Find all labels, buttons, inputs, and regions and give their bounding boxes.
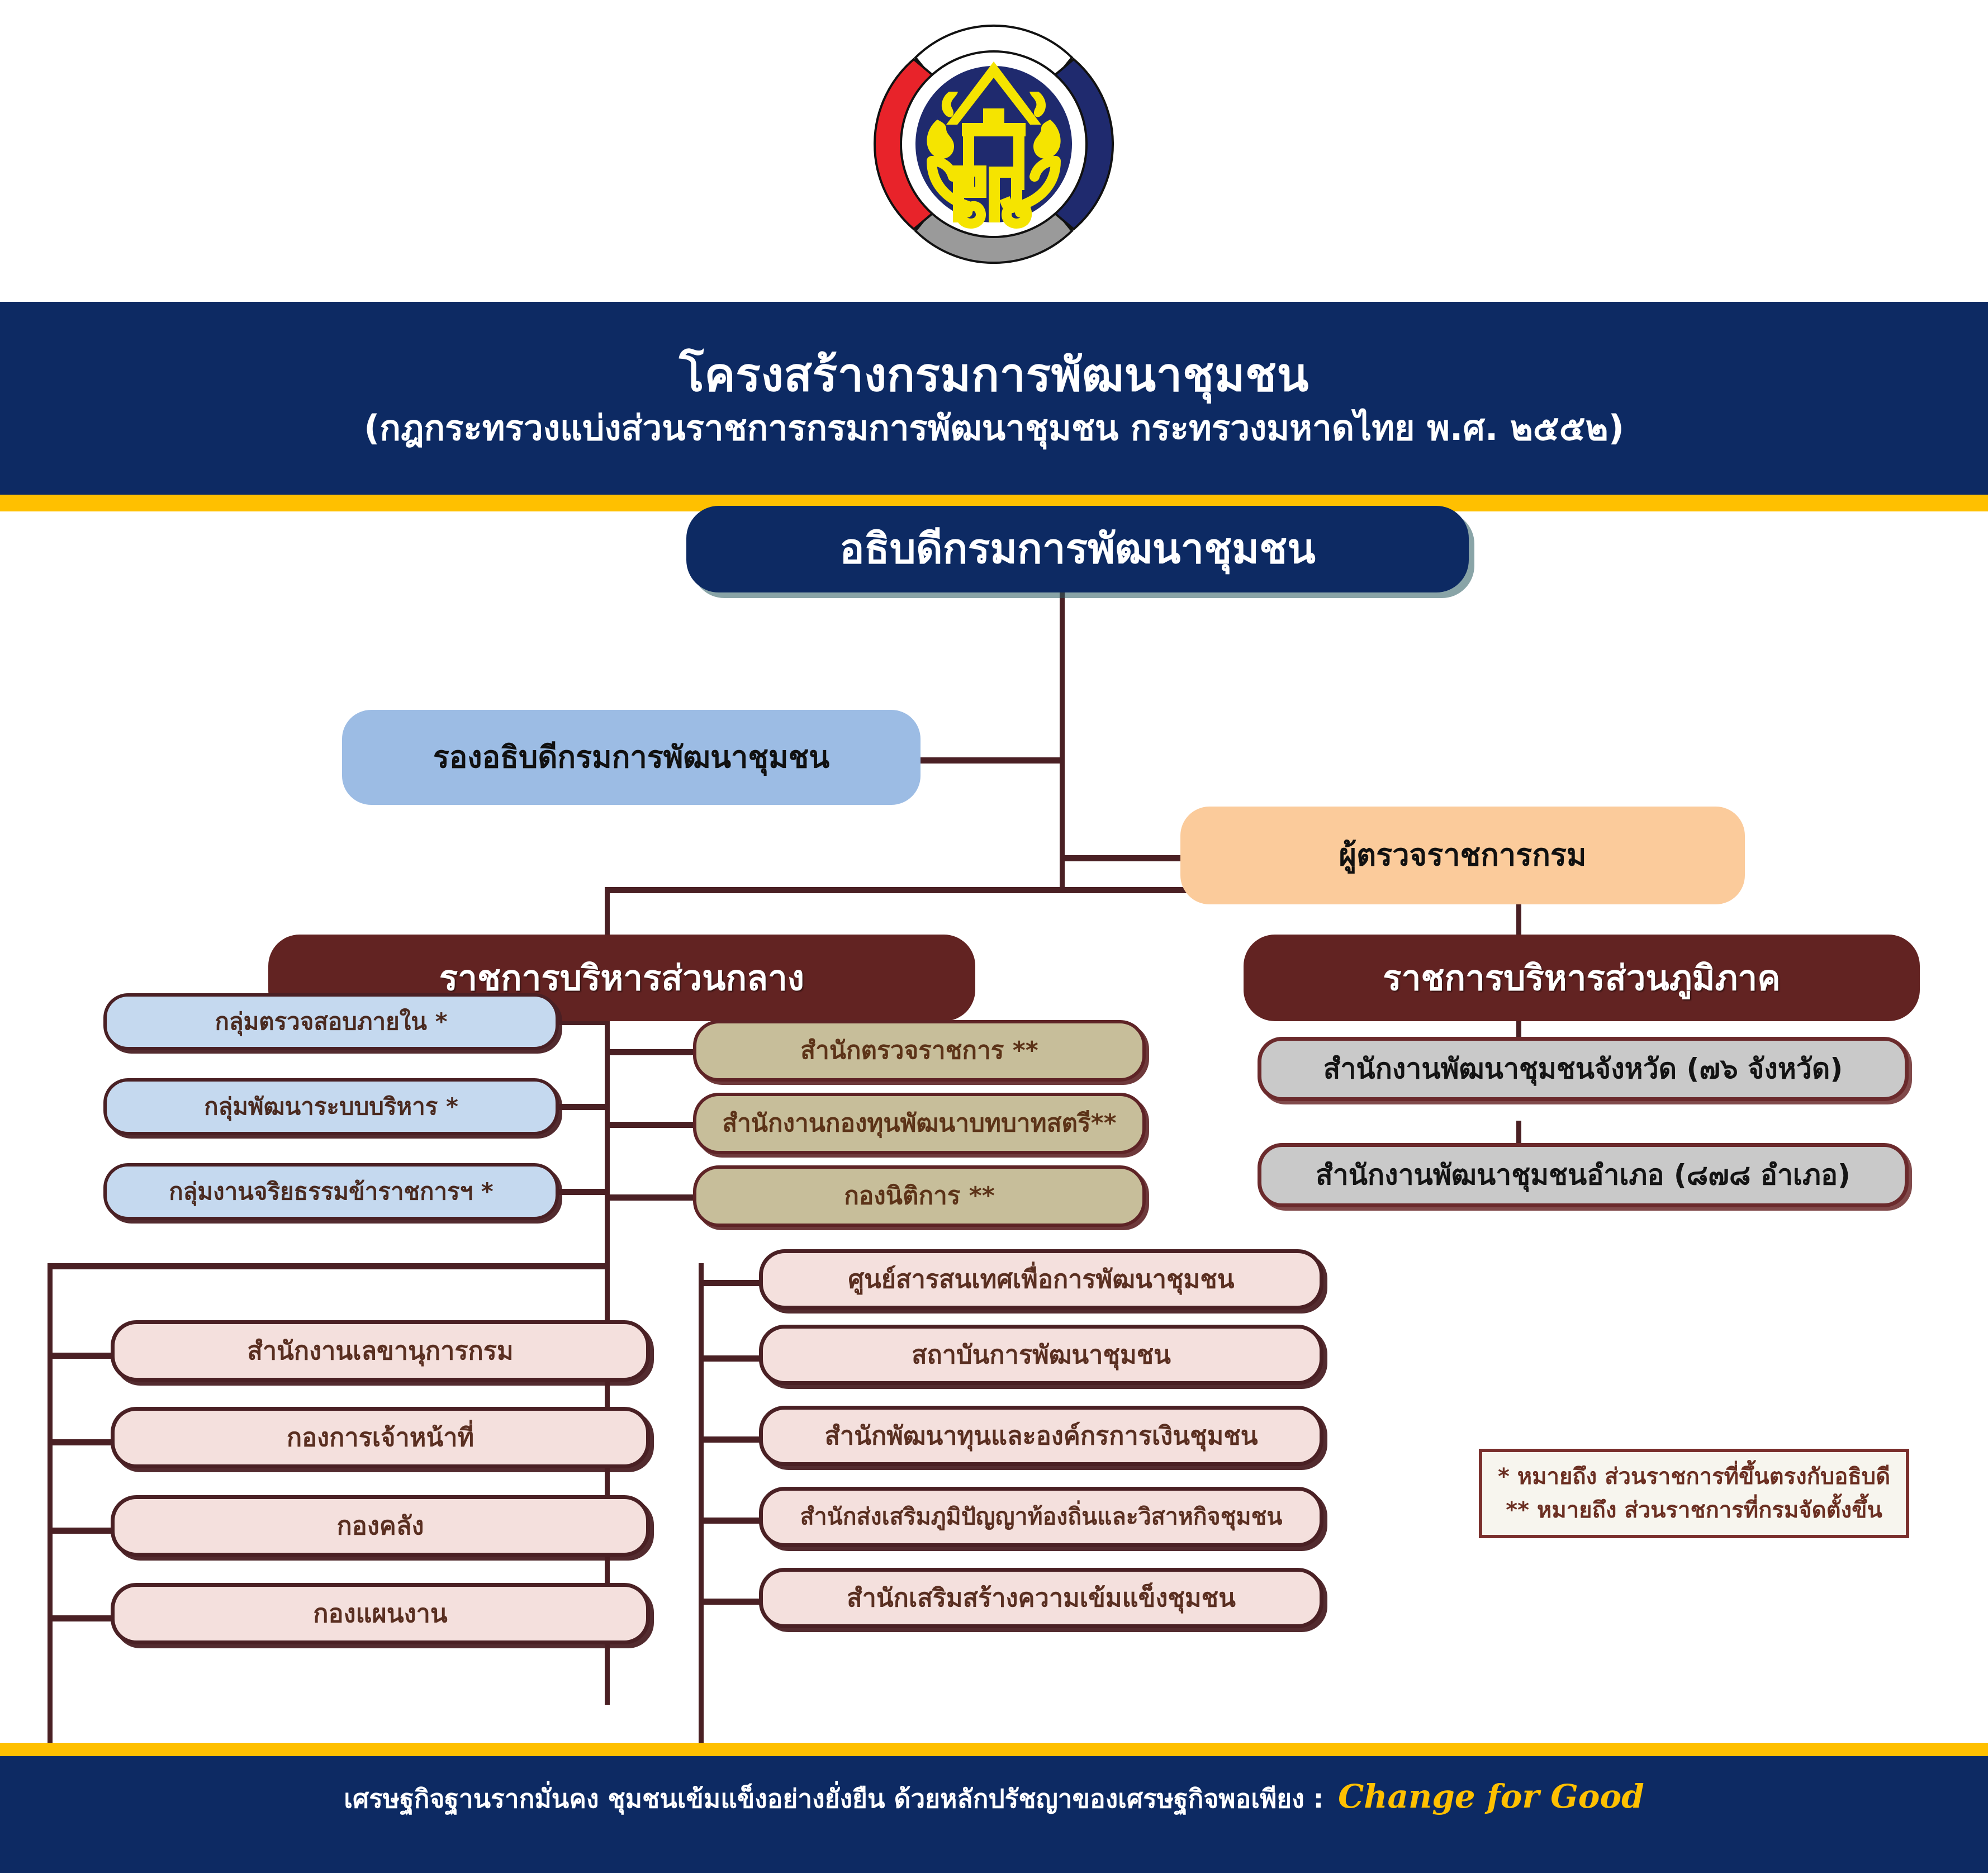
connector-left-2 (48, 1439, 112, 1445)
connector-left-1 (48, 1353, 112, 1359)
legend-box: * หมายถึง ส่วนราชการที่ขึ้นตรงกับอธิบดี … (1479, 1449, 1909, 1538)
connector-right-4 (699, 1599, 760, 1605)
node-information-center[interactable]: ศูนย์สารสนเทศเพื่อการพัฒนาชุมชน (759, 1249, 1323, 1310)
node-deputy-director[interactable]: รองอธิบดีกรมการพัฒนาชุมชน (342, 710, 921, 805)
connector-to-inspector (1060, 855, 1183, 861)
node-local-wisdom-and-enterprise-bureau[interactable]: สำนักส่งเสริมภูมิปัญญาท้องถิ่นและวิสาหกิ… (759, 1487, 1323, 1547)
node-district-cdd-office[interactable]: สำนักงานพัฒนาชุมชนอำเภอ (๘๗๘ อำเภอ) (1258, 1143, 1909, 1207)
node-community-strengthening-bureau[interactable]: สำนักเสริมสร้างความเข้มแข็งชุมชน (759, 1568, 1323, 1628)
page-subtitle: (กฎกระทรวงแบ่งส่วนราชการกรมการพัฒนาชุมชน… (364, 410, 1624, 446)
connector-left-column-spine (48, 1263, 53, 1786)
node-personnel-division[interactable]: กองการเจ้าหน้าที่ (111, 1407, 650, 1468)
connector-to-deputy (917, 757, 1065, 764)
node-planning-division[interactable]: กองแผนงาน (111, 1583, 650, 1644)
node-admin-system-development-group[interactable]: กลุ่มพัฒนาระบบบริหาร * (103, 1078, 559, 1135)
node-womens-development-fund-office[interactable]: สำนักงานกองทุนพัฒนาบทบาทสตรี** (693, 1093, 1146, 1154)
node-internal-audit-group[interactable]: กลุ่มตรวจสอบภายใน * (103, 993, 559, 1050)
connector-left-3 (48, 1528, 112, 1534)
connector-right-column-spine (699, 1263, 704, 1791)
connector-blue-2 (559, 1104, 609, 1110)
node-director[interactable]: อธิบดีกรมการพัฒนาชุมชน (686, 506, 1469, 592)
connector-khaki-3 (605, 1194, 694, 1201)
footer-accent-rule (0, 1743, 1988, 1756)
node-inspection-bureau[interactable]: สำนักตรวจราชการ ** (693, 1020, 1146, 1082)
node-legal-affairs-division[interactable]: กองนิติการ ** (693, 1165, 1146, 1227)
footer-slogan: Change for Good (1338, 1777, 1644, 1815)
footer-motto: เศรษฐกิจฐานรากมั่นคง ชุมชนเข้มแข็งอย่างย… (344, 1779, 1323, 1819)
connector-khaki-2 (605, 1122, 694, 1128)
connector-root-trunk (1060, 592, 1065, 889)
node-capital-and-community-finance-bureau[interactable]: สำนักพัฒนาทุนและองค์กรการเงินชุมชน (759, 1406, 1323, 1466)
legend-line-single-asterisk: * หมายถึง ส่วนราชการที่ขึ้นตรงกับอธิบดี (1498, 1460, 1890, 1493)
legend-line-double-asterisk: ** หมายถึง ส่วนราชการที่กรมจัดตั้งขึ้น (1506, 1493, 1882, 1527)
node-community-development-institute[interactable]: สถาบันการพัฒนาชุมชน (759, 1325, 1323, 1385)
node-regional-administration[interactable]: ราชการบริหารส่วนภูมิภาค (1244, 935, 1920, 1021)
page-title: โครงสร้างกรมการพัฒนาชุมชน (679, 350, 1309, 399)
title-band: โครงสร้างกรมการพัฒนาชุมชน (กฎกระทรวงแบ่ง… (0, 302, 1988, 495)
logo-area (0, 0, 1988, 302)
connector-lower-bar (48, 1263, 609, 1269)
org-chart: อธิบดีกรมการพัฒนาชุมชน รองอธิบดีกรมการพั… (0, 511, 1988, 1755)
node-inspector-general[interactable]: ผู้ตรวจราชการกรม (1180, 807, 1745, 904)
connector-right-0 (699, 1280, 760, 1286)
connector-khaki-1 (605, 1049, 694, 1055)
cdd-emblem-icon (862, 4, 1125, 284)
node-finance-division[interactable]: กองคลัง (111, 1495, 650, 1557)
footer-band: เศรษฐกิจฐานรากมั่นคง ชุมชนเข้มแข็งอย่างย… (0, 1756, 1988, 1873)
node-provincial-cdd-office[interactable]: สำนักงานพัฒนาชุมชนจังหวัด (๗๖ จังหวัด) (1258, 1037, 1909, 1101)
node-civil-service-ethics-group[interactable]: กลุ่มงานจริยธรรมข้าราชการฯ * (103, 1163, 559, 1220)
connector-section-left-drop (605, 887, 610, 937)
connector-right-2 (699, 1436, 760, 1443)
connector-left-4 (48, 1615, 112, 1621)
connector-right-3 (699, 1518, 760, 1524)
connector-blue-3 (559, 1189, 609, 1195)
connector-right-1 (699, 1355, 760, 1362)
node-office-of-secretary[interactable]: สำนักงานเลขานุการกรม (111, 1320, 650, 1382)
